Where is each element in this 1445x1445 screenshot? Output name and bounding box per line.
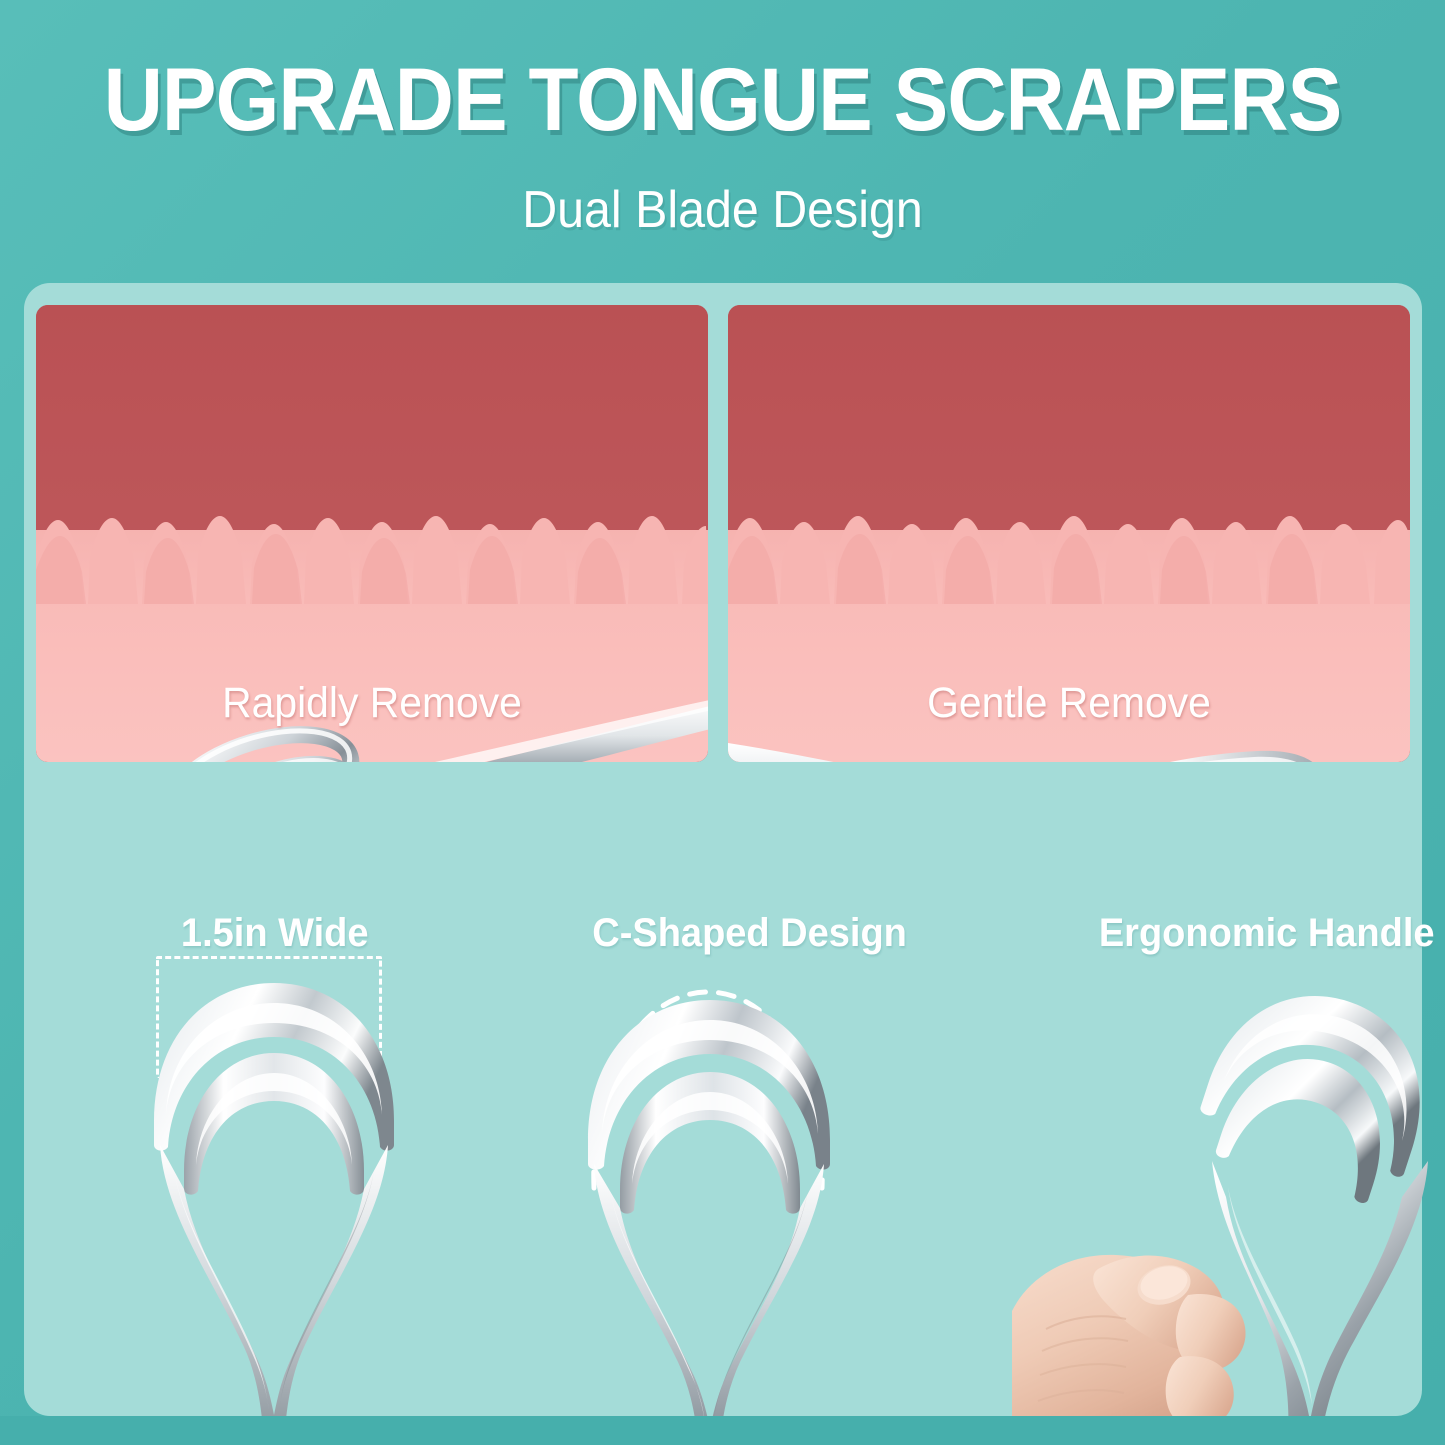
feature-label-width: 1.5in Wide bbox=[181, 911, 369, 956]
header-block: UPGRADE TONGUE SCRAPERS Dual Blade Desig… bbox=[0, 55, 1445, 236]
papillae-row-right bbox=[728, 514, 1410, 604]
papillae-row-left bbox=[36, 514, 708, 604]
scraper-head-c-shape bbox=[572, 992, 844, 1445]
panel-rapidly-remove: Rapidly Remove bbox=[36, 305, 708, 762]
page-subtitle: Dual Blade Design bbox=[51, 184, 1395, 236]
hand-holding-scraper bbox=[1012, 1225, 1372, 1445]
scraper-head-wide bbox=[140, 975, 408, 1445]
scraper-illustration-right bbox=[728, 725, 1348, 762]
panel-label-rapidly-remove: Rapidly Remove bbox=[53, 679, 691, 728]
feature-label-c-shape: C-Shaped Design bbox=[592, 911, 907, 956]
feature-label-handle: Ergonomic Handle bbox=[1099, 911, 1435, 956]
panel-label-gentle-remove: Gentle Remove bbox=[745, 679, 1393, 728]
page-title: UPGRADE TONGUE SCRAPERS bbox=[58, 55, 1387, 144]
panel-gentle-remove: Gentle Remove bbox=[728, 305, 1410, 762]
infographic-root: UPGRADE TONGUE SCRAPERS Dual Blade Desig… bbox=[0, 0, 1445, 1445]
bottom-background-strip bbox=[0, 1416, 1445, 1445]
